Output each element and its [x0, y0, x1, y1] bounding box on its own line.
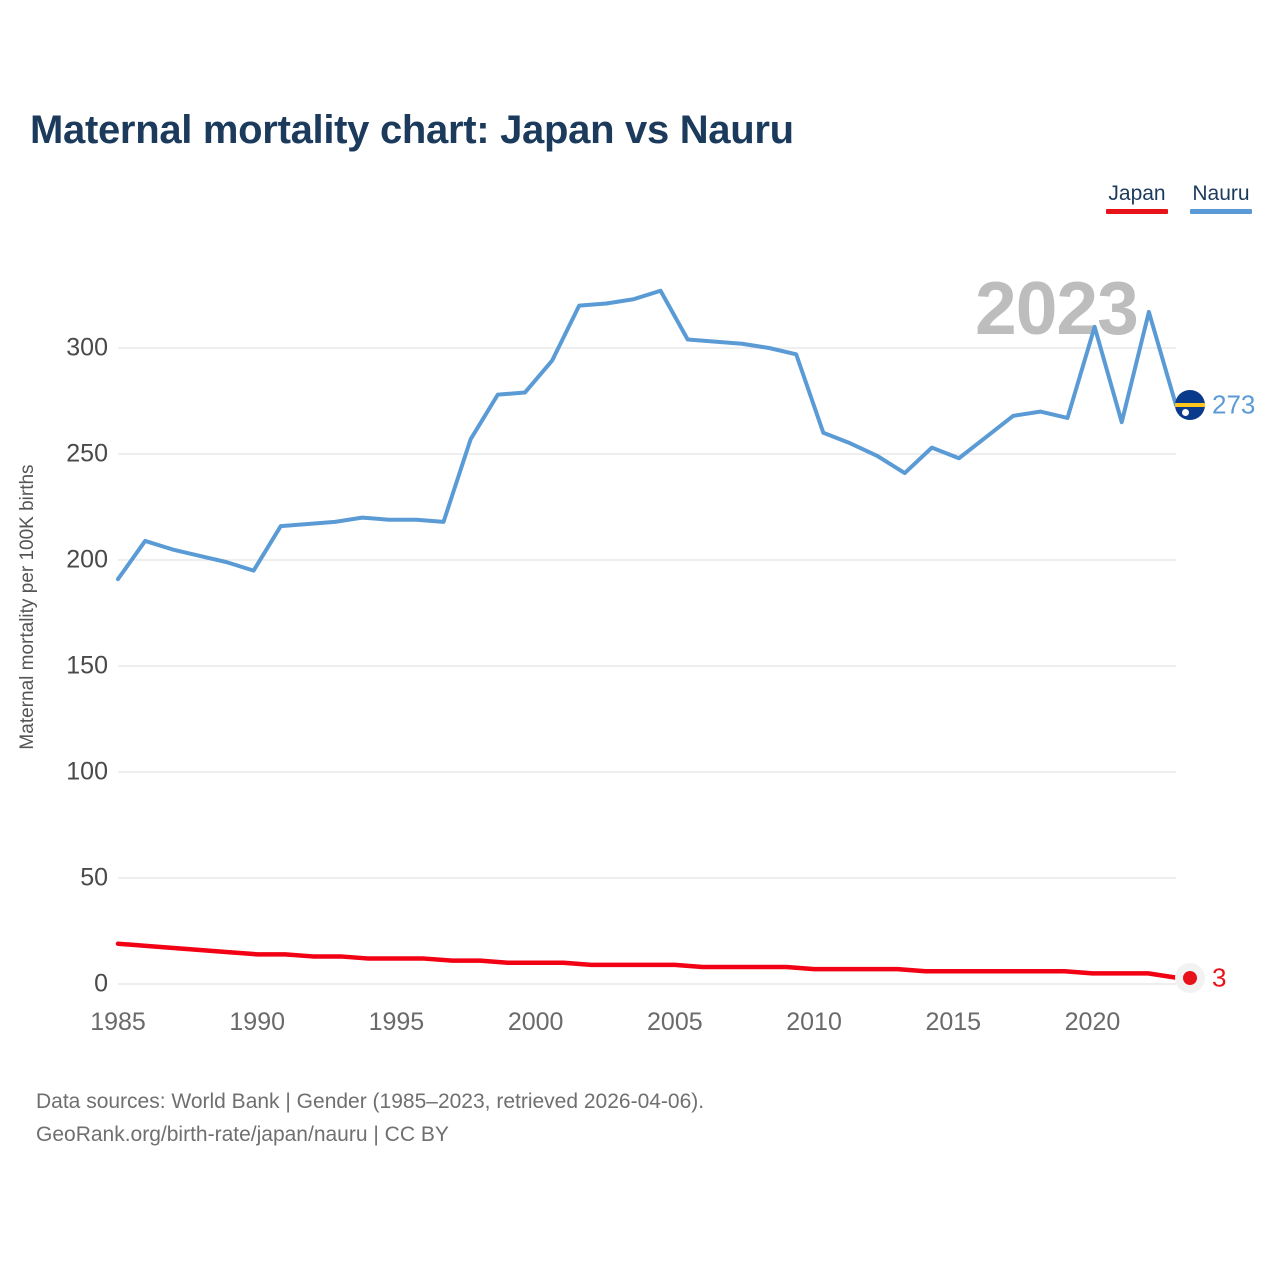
- y-tick-label: 200: [38, 546, 108, 575]
- chart-page: Maternal mortality chart: Japan vs Nauru…: [0, 0, 1280, 1280]
- x-tick-label: 2015: [925, 1008, 981, 1037]
- footer-line-2: GeoRank.org/birth-rate/japan/nauru | CC …: [36, 1119, 704, 1152]
- footer-sources: Data sources: World Bank | Gender (1985–…: [36, 1086, 704, 1151]
- footer-line-1: Data sources: World Bank | Gender (1985–…: [36, 1086, 704, 1119]
- nauru-flag-star: [1182, 409, 1189, 416]
- japan-flag-icon: [1175, 963, 1205, 993]
- x-tick-label: 1990: [229, 1008, 285, 1037]
- y-tick-label: 300: [38, 334, 108, 363]
- nauru-flag-icon: [1175, 390, 1205, 420]
- x-tick-label: 1985: [90, 1008, 146, 1037]
- japan-end-value-label: 3: [1212, 962, 1226, 993]
- y-tick-label: 0: [38, 970, 108, 999]
- y-tick-label: 100: [38, 758, 108, 787]
- nauru-flag-band: [1175, 403, 1205, 407]
- japan-flag-disc: [1183, 971, 1197, 985]
- nauru-end-value-label: 273: [1212, 390, 1255, 421]
- x-tick-label: 2020: [1065, 1008, 1121, 1037]
- series-line-japan: [118, 944, 1176, 978]
- gridlines: [118, 348, 1176, 984]
- y-tick-label: 150: [38, 652, 108, 681]
- x-tick-label: 2010: [786, 1008, 842, 1037]
- x-tick-label: 2005: [647, 1008, 703, 1037]
- x-tick-label: 1995: [369, 1008, 425, 1037]
- series-line-nauru: [118, 291, 1176, 579]
- y-tick-label: 50: [38, 864, 108, 893]
- x-tick-label: 2000: [508, 1008, 564, 1037]
- y-tick-label: 250: [38, 440, 108, 469]
- y-axis-title: Maternal mortality per 100K births: [17, 287, 39, 927]
